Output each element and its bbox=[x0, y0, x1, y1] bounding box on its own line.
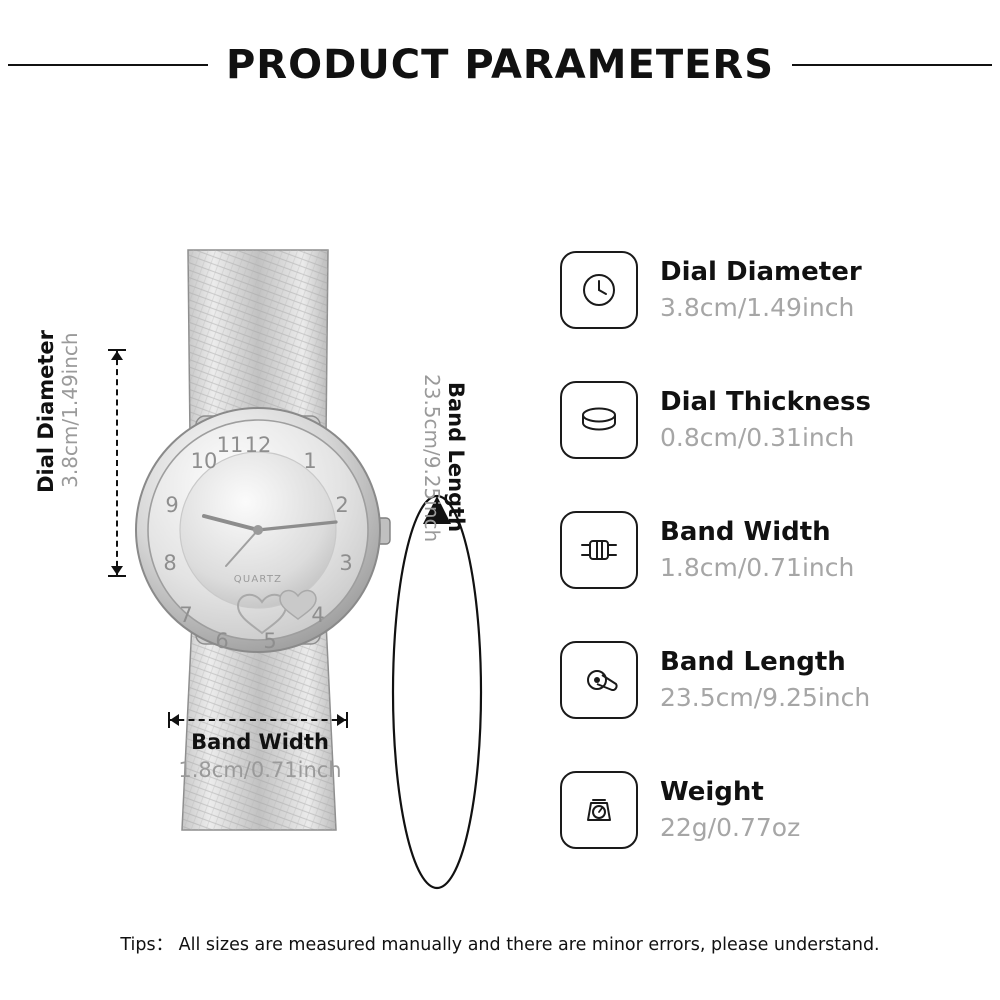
spec-text-weight: Weight 22g/0.77oz bbox=[660, 776, 800, 844]
spec-name: Weight bbox=[660, 776, 800, 809]
band-width-measure-bar bbox=[168, 712, 348, 728]
spec-name: Band Length bbox=[660, 646, 870, 679]
footer-tip: Tips： All sizes are measured manually an… bbox=[0, 931, 1000, 956]
spec-value: 22g/0.77oz bbox=[660, 812, 800, 845]
svg-text:QUARTZ: QUARTZ bbox=[234, 574, 282, 585]
spec-row-dial-thickness: Dial Thickness 0.8cm/0.31inch bbox=[560, 370, 980, 470]
clock-icon bbox=[560, 251, 638, 329]
measure-cap-bottom bbox=[108, 575, 126, 577]
band-width-value: 1.8cm/0.71inch bbox=[120, 758, 400, 782]
header-rule-left bbox=[8, 64, 208, 66]
spec-row-dial-diameter: Dial Diameter 3.8cm/1.49inch bbox=[560, 240, 980, 340]
svg-text:1: 1 bbox=[303, 449, 316, 473]
header-rule-right bbox=[792, 64, 992, 66]
spec-name: Dial Diameter bbox=[660, 256, 862, 289]
spec-name: Dial Thickness bbox=[660, 386, 871, 419]
svg-text:7: 7 bbox=[179, 603, 192, 627]
spec-name: Band Width bbox=[660, 516, 854, 549]
page-header: PRODUCT PARAMETERS bbox=[0, 30, 1000, 100]
disc-thickness-icon bbox=[560, 381, 638, 459]
spec-row-weight: Weight 22g/0.77oz bbox=[560, 760, 980, 860]
dial-diameter-caption: Dial Diameter 3.8cm/1.49inch bbox=[34, 330, 80, 493]
band-length-label: Band Length bbox=[444, 372, 468, 542]
spec-text-band-width: Band Width 1.8cm/0.71inch bbox=[660, 516, 854, 584]
band-width-label: Band Width bbox=[120, 730, 400, 754]
svg-text:3: 3 bbox=[339, 551, 352, 575]
svg-text:10: 10 bbox=[191, 449, 218, 473]
scale-icon bbox=[560, 771, 638, 849]
band-width-caption: Band Width 1.8cm/0.71inch bbox=[120, 730, 400, 782]
measure-stem-vertical bbox=[116, 349, 118, 577]
arrow-up-icon bbox=[111, 351, 123, 360]
strap-icon bbox=[560, 641, 638, 719]
spec-list: Dial Diameter 3.8cm/1.49inch Dial Thickn… bbox=[560, 240, 980, 890]
measure-stem-horizontal bbox=[168, 719, 348, 721]
dial-diameter-label: Dial Diameter bbox=[34, 330, 58, 493]
arrow-left-icon bbox=[170, 714, 179, 726]
svg-text:11: 11 bbox=[217, 433, 244, 457]
spec-row-band-width: Band Width 1.8cm/0.71inch bbox=[560, 500, 980, 600]
spec-value: 23.5cm/9.25inch bbox=[660, 682, 870, 715]
spec-text-band-length: Band Length 23.5cm/9.25inch bbox=[660, 646, 870, 714]
arrow-right-icon bbox=[337, 714, 346, 726]
spec-value: 0.8cm/0.31inch bbox=[660, 422, 871, 455]
svg-text:12: 12 bbox=[245, 433, 272, 457]
svg-text:9: 9 bbox=[165, 493, 178, 517]
spec-value: 1.8cm/0.71inch bbox=[660, 552, 854, 585]
arrow-down-icon bbox=[111, 566, 123, 575]
svg-text:8: 8 bbox=[163, 551, 176, 575]
dial-diameter-measure-bar bbox=[108, 349, 126, 577]
svg-text:2: 2 bbox=[335, 493, 348, 517]
band-length-value: 23.5cm/9.25inch bbox=[420, 374, 444, 542]
dial-diameter-value: 3.8cm/1.49inch bbox=[58, 330, 82, 491]
spec-text-dial-diameter: Dial Diameter 3.8cm/1.49inch bbox=[660, 256, 862, 324]
page-title: PRODUCT PARAMETERS bbox=[226, 42, 774, 88]
measure-cap-right bbox=[346, 712, 348, 728]
band-length-indicator bbox=[382, 480, 492, 900]
spec-text-dial-thickness: Dial Thickness 0.8cm/0.31inch bbox=[660, 386, 871, 454]
spec-value: 3.8cm/1.49inch bbox=[660, 292, 862, 325]
svg-text:6: 6 bbox=[215, 629, 228, 653]
band-length-caption: Band Length 23.5cm/9.25inch bbox=[404, 372, 468, 542]
buckle-icon bbox=[560, 511, 638, 589]
spec-row-band-length: Band Length 23.5cm/9.25inch bbox=[560, 630, 980, 730]
svg-text:5: 5 bbox=[263, 629, 276, 653]
